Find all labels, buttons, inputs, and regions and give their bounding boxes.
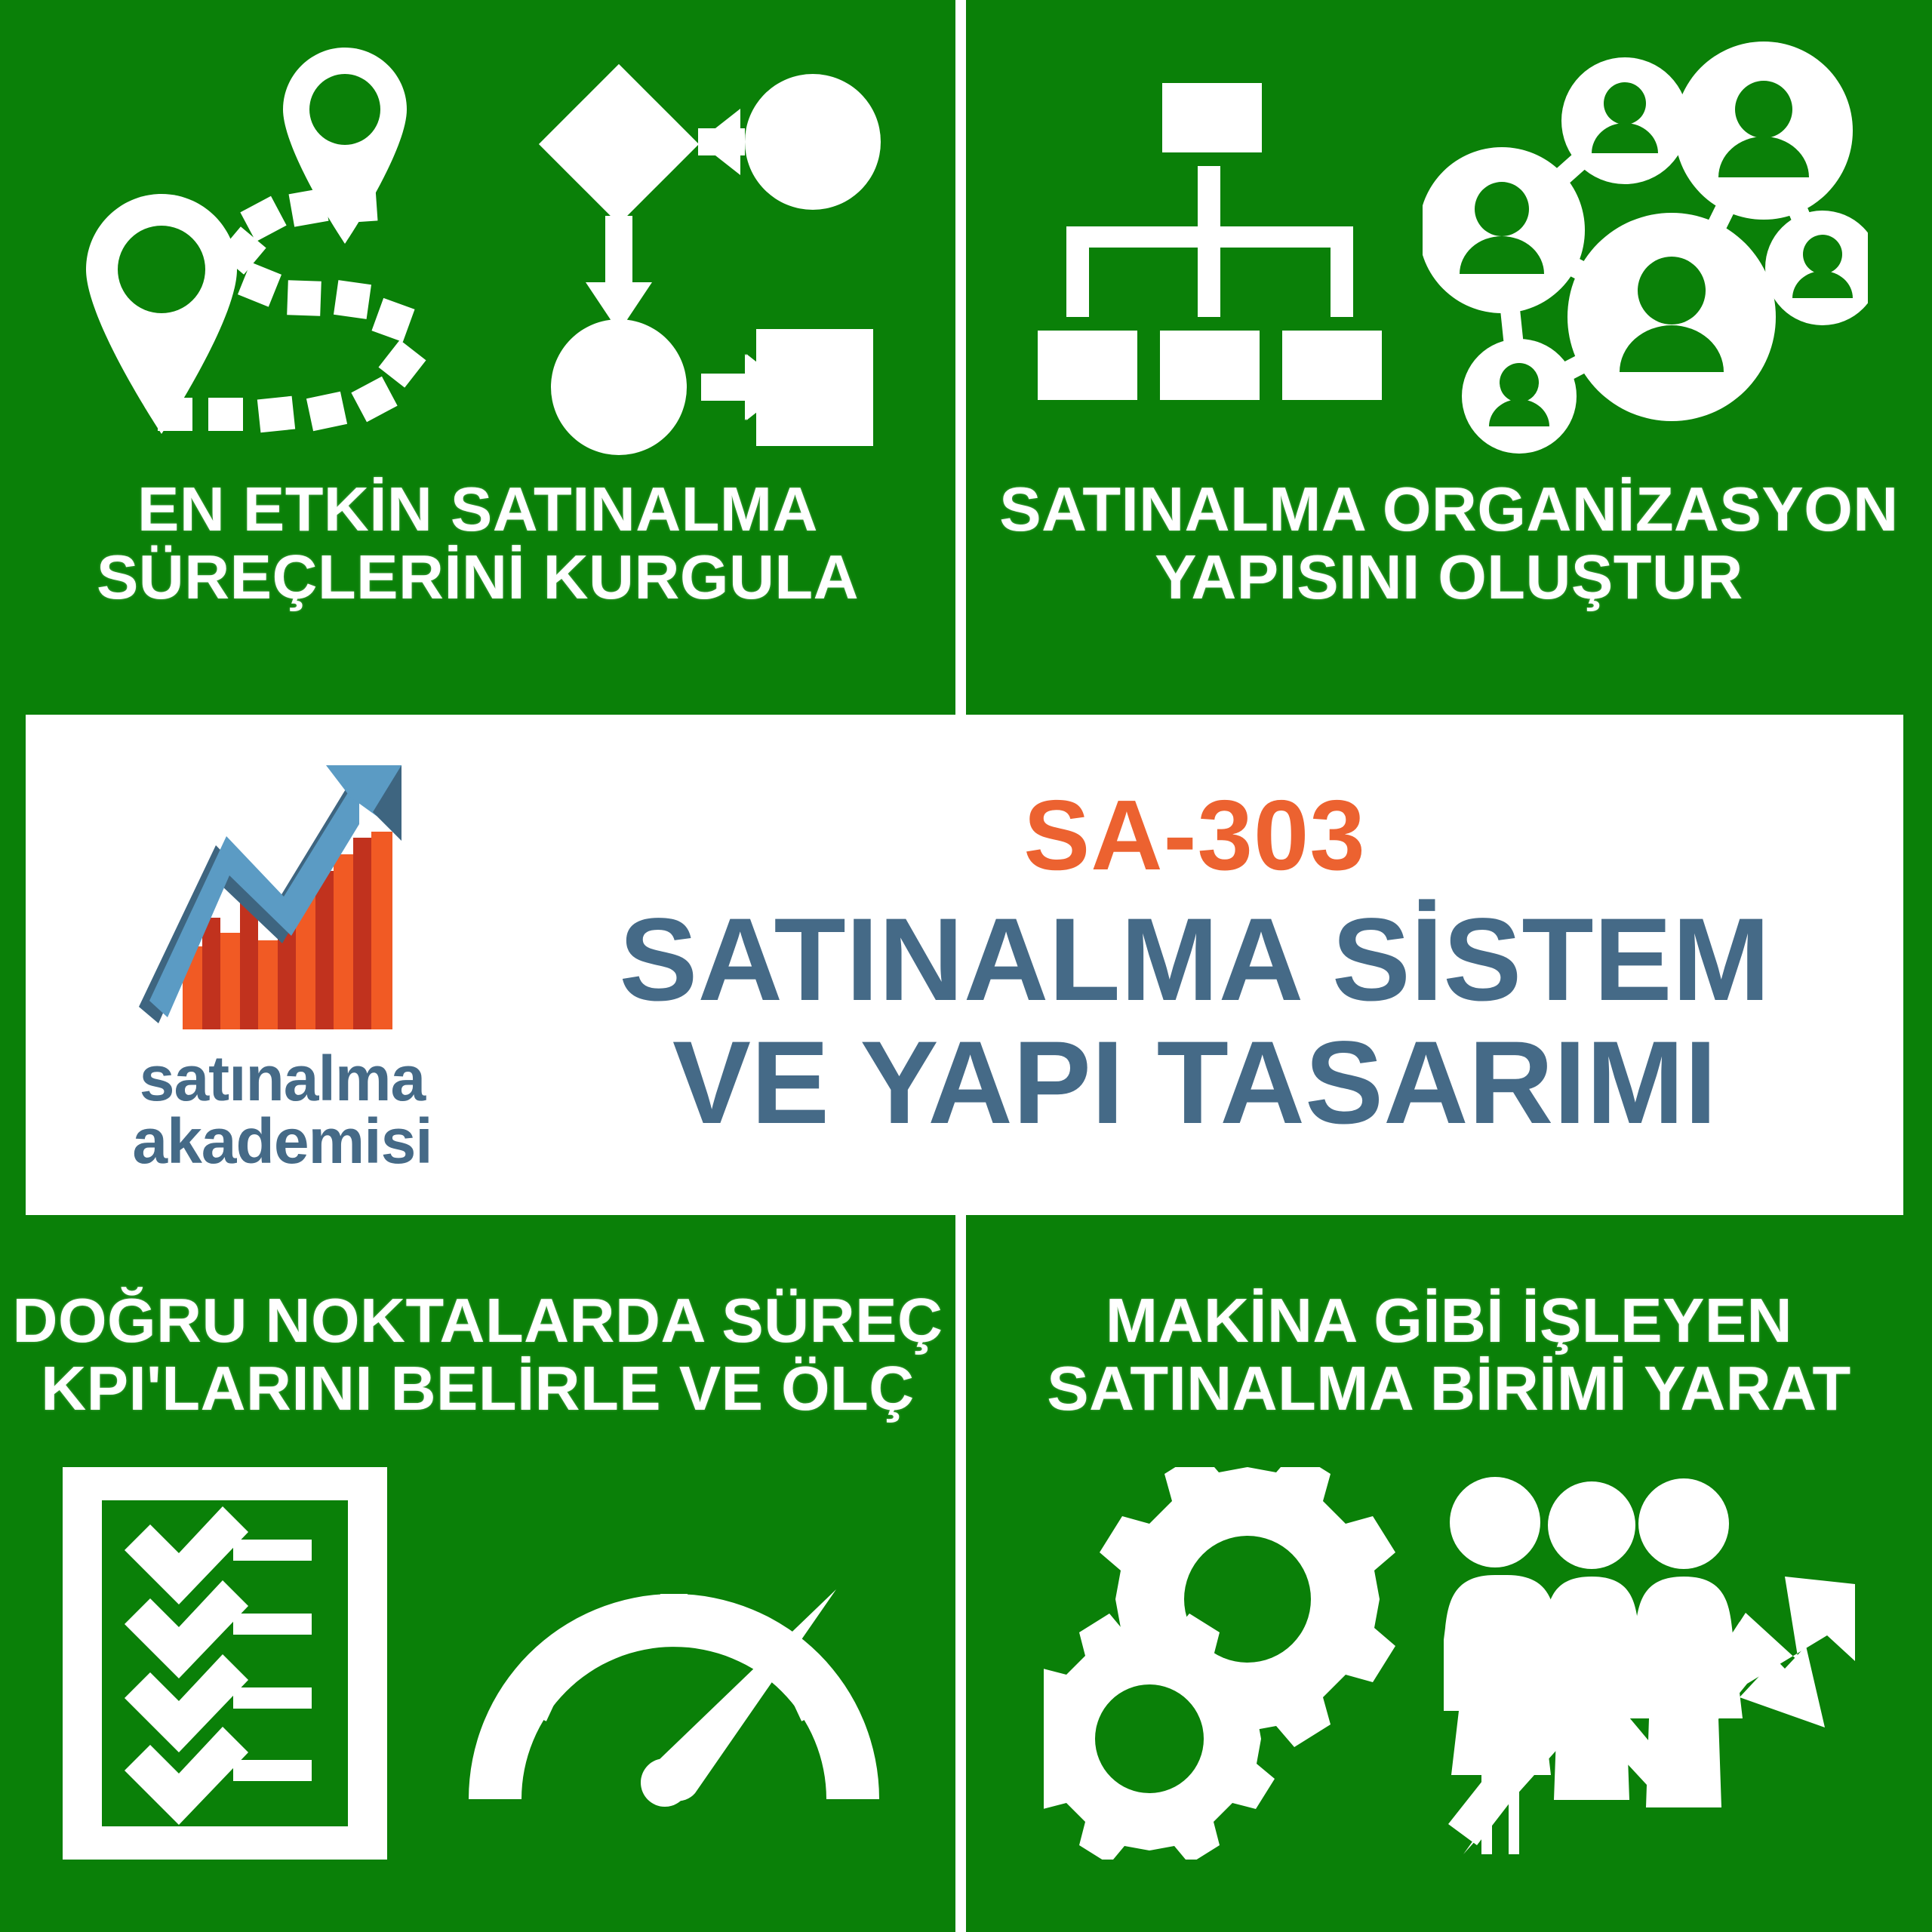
people-network-icon [1423,42,1868,457]
brand-wordmark: satınalma akademisi [132,1048,432,1172]
caption-bottom-left: DOĞRU NOKTALARDA SÜREÇ KPI'LARINI BELİRL… [13,1287,943,1422]
checklist-icon [63,1467,387,1860]
quadrant-bottom-left: DOĞRU NOKTALARDA SÜREÇ KPI'LARINI BELİRL… [0,1219,955,1932]
icon-row-bottom-left [0,1452,955,1875]
quadrant-top-right: SATINALMA ORGANİZASYON YAPISINI OLUŞTUR [966,0,1932,713]
gears-icon [1044,1467,1421,1860]
icon-row-top-right [966,23,1932,475]
flowchart-icon [496,44,918,455]
caption-top-right: SATINALMA ORGANİZASYON YAPISINI OLUŞTUR [999,475,1898,611]
divider-vertical-top [955,0,966,715]
course-title: SATINALMA SİSTEM VE YAPI TASARIMI [619,899,1770,1143]
org-chart-icon [1030,68,1392,430]
brand-logo: satınalma akademisi [26,715,494,1215]
quadrant-top-left: EN ETKİN SATINALMA SÜREÇLERİNİ KURGULA [0,0,955,713]
caption-top-left: EN ETKİN SATINALMA SÜREÇLERİNİ KURGULA [97,475,859,611]
poster-canvas: EN ETKİN SATINALMA SÜREÇLERİNİ KURGULA [0,0,1932,1932]
caption-bottom-right: MAKİNA GİBİ İŞLEYEN SATINALMA BİRİMİ YAR… [1047,1287,1850,1422]
growth-chart-logo-icon [124,758,441,1052]
team-growth-arrow-icon [1444,1471,1855,1856]
icon-row-bottom-right [966,1452,1932,1875]
gauge-icon [455,1505,893,1822]
route-map-pins-icon [37,34,482,464]
quadrant-bottom-right: MAKİNA GİBİ İŞLEYEN SATINALMA BİRİMİ YAR… [966,1219,1932,1932]
course-code: SA-303 [1023,786,1366,885]
banner-text-block: SA-303 SATINALMA SİSTEM VE YAPI TASARIMI [494,786,1903,1143]
icon-row-top-left [0,23,955,475]
center-banner: satınalma akademisi SA-303 SATINALMA SİS… [26,715,1903,1215]
divider-vertical-bottom [955,1215,966,1932]
